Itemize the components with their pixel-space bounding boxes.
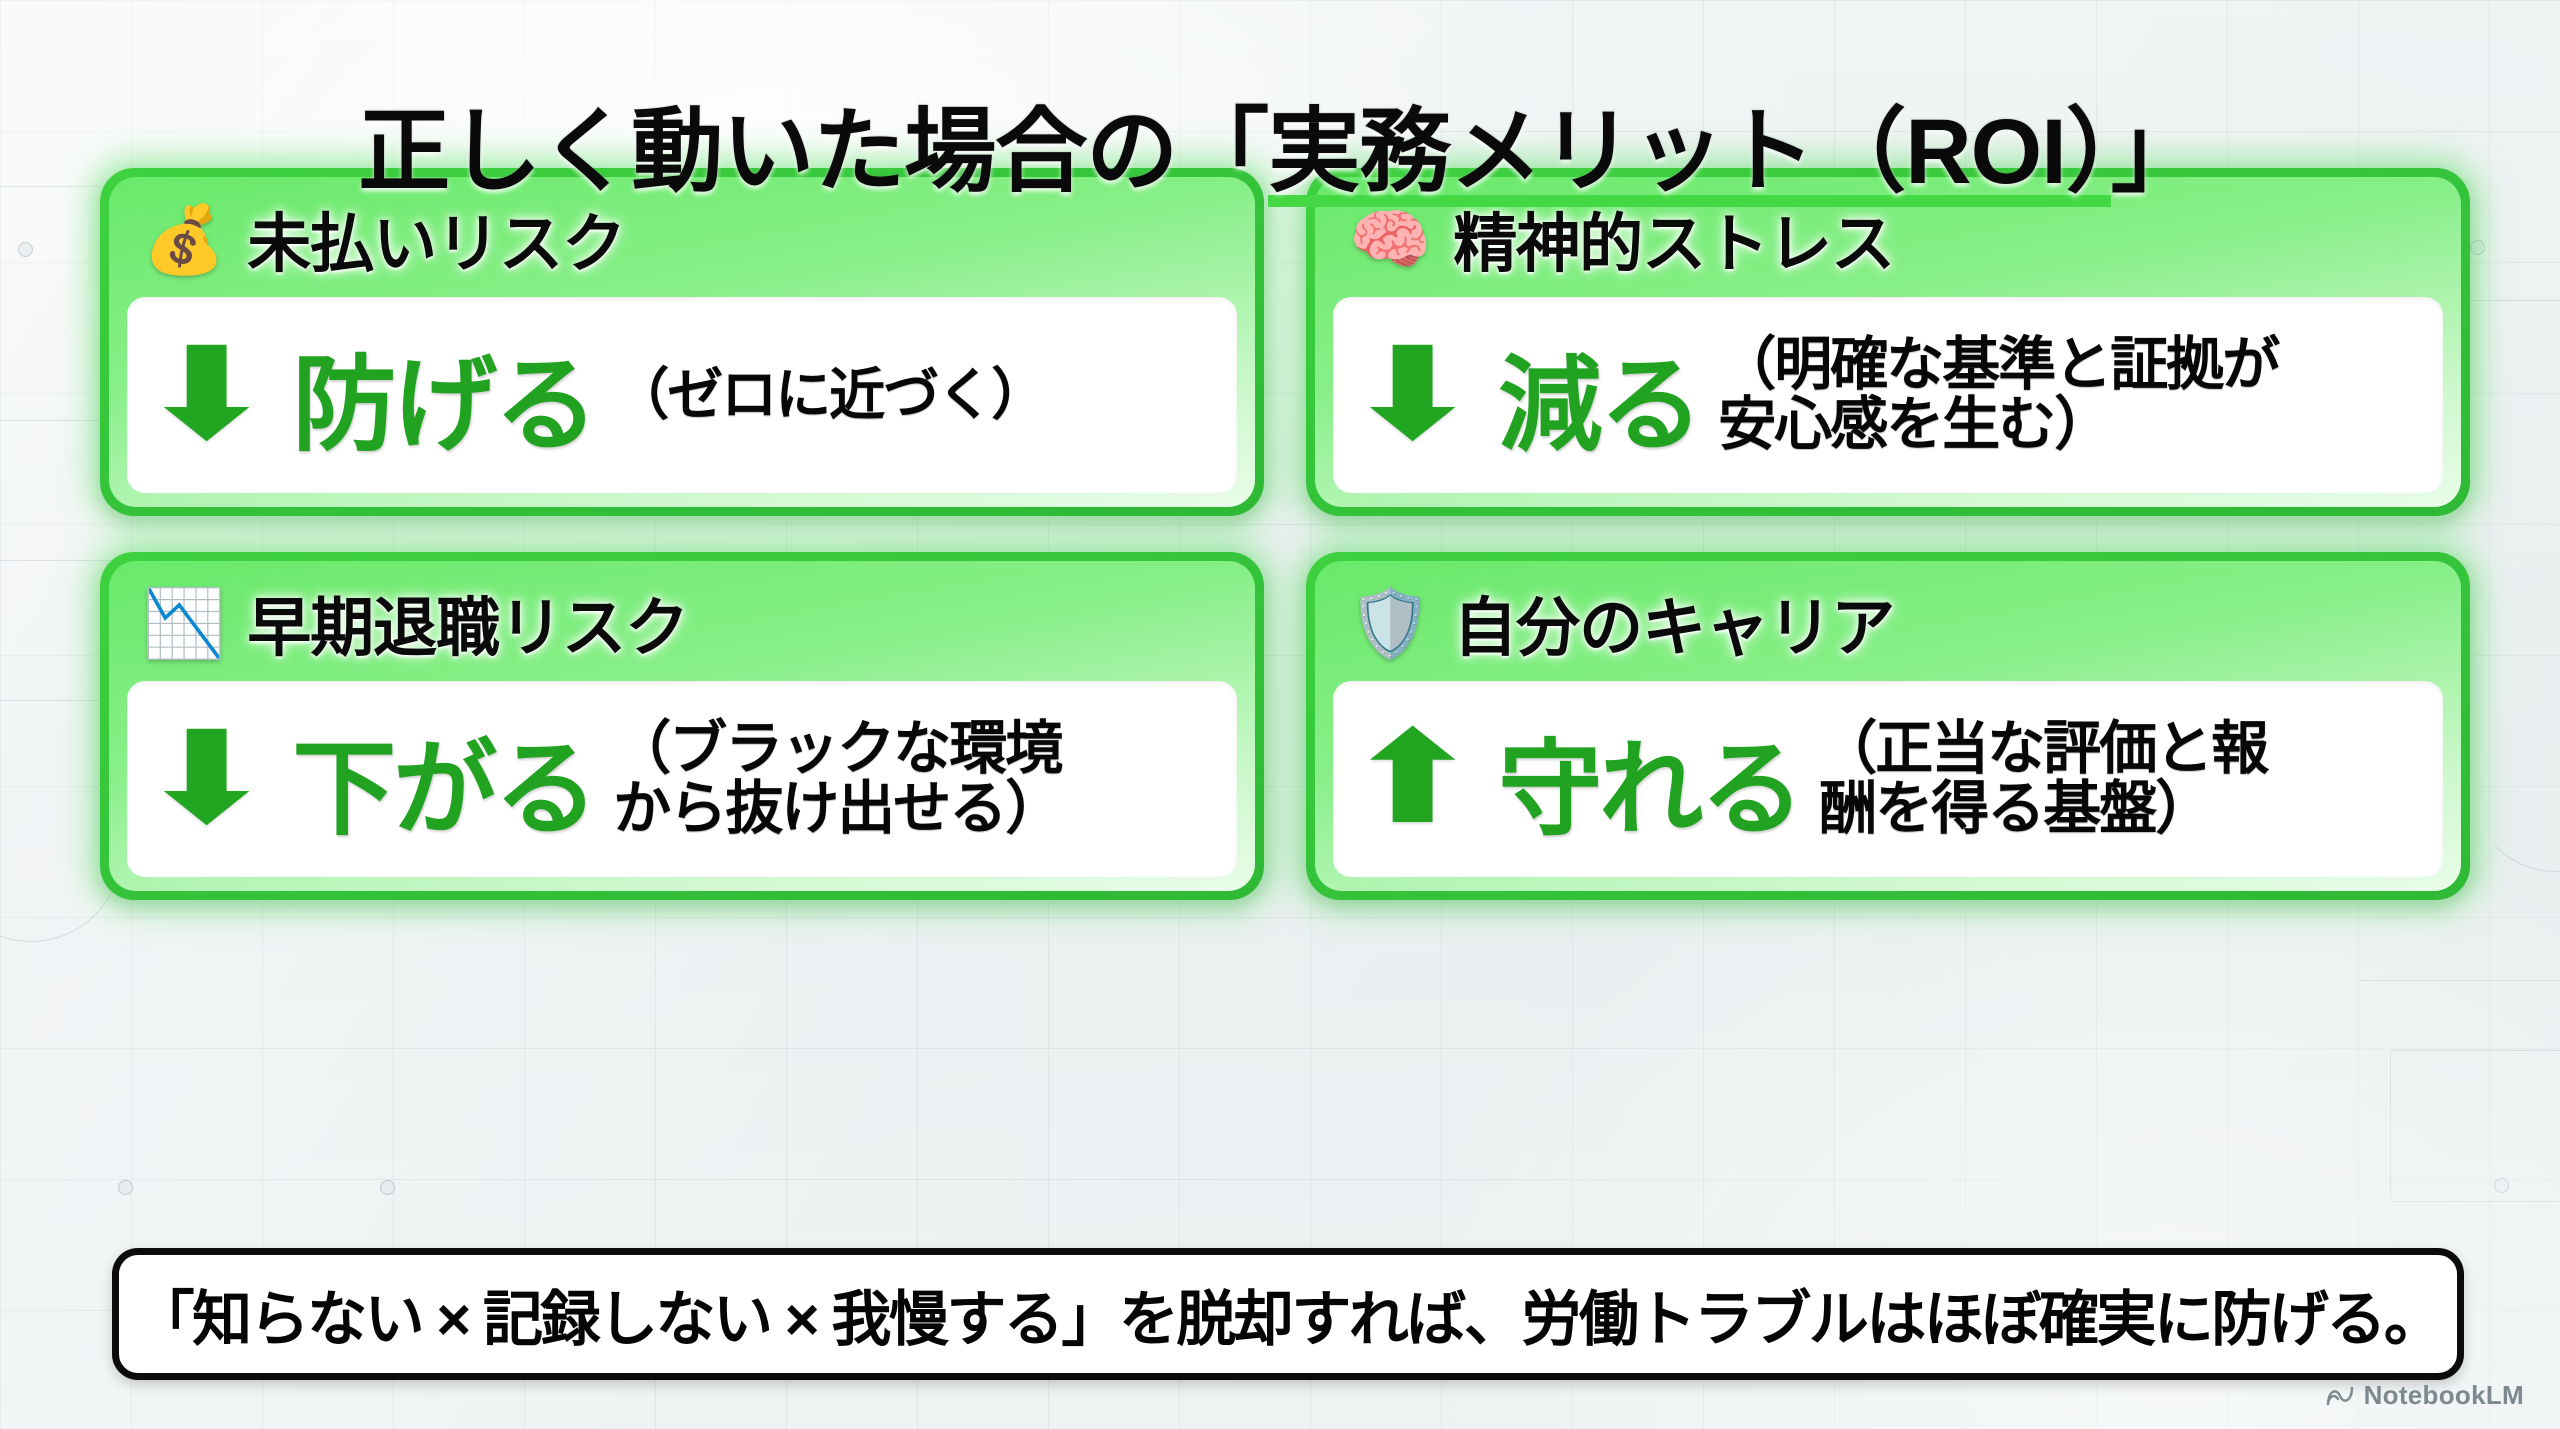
card-body: ⬆ 守れる （正当な評価と報酬を得る基盤）: [1333, 681, 2443, 877]
summary-banner: 「知らない × 記録しない × 我慢する」を脱却すれば、労働トラブルはほぼ確実に…: [112, 1248, 2464, 1380]
card-note: （ゼロに近づく）: [613, 366, 1045, 424]
card-title: 自分のキャリア: [1453, 577, 1894, 669]
card-note: （ブラックな環境から抜け出せる）: [613, 719, 1061, 840]
summary-banner-text: 「知らない × 記録しない × 我慢する」を脱却すれば、労働トラブルはほぼ確実に…: [135, 1271, 2442, 1358]
bg-dot: [380, 1180, 395, 1195]
card-header: 🛡️ 自分のキャリア: [1333, 577, 2443, 669]
benefit-card-grid: 💰 未払いリスク ⬇ 防げる （ゼロに近づく） 🧠 精神的ストレス ⬇ 減る （…: [100, 168, 2470, 900]
arrow-down-icon: ⬇: [140, 331, 274, 459]
card-body: ⬇ 下がる （ブラックな環境から抜け出せる）: [127, 681, 1237, 877]
arrow-up-icon: ⬆: [1346, 715, 1480, 843]
card-title: 早期退職リスク: [247, 577, 688, 669]
card-note-line: 酬を得る基盤）: [1819, 776, 2211, 841]
chart-decreasing-icon: 📉: [143, 590, 225, 656]
card-body: ⬇ 防げる （ゼロに近づく）: [127, 297, 1237, 493]
notebooklm-watermark: NotebookLM: [2325, 1380, 2524, 1411]
page-title-container: 正しく動いた場合の「実務メリット（ROI）」: [0, 42, 2560, 262]
card-verb: 下がる: [292, 704, 595, 855]
card-verb: 減る: [1498, 320, 1700, 471]
arrow-down-icon: ⬇: [140, 715, 274, 843]
notebooklm-logo-icon: [2325, 1384, 2355, 1408]
arrow-down-icon: ⬇: [1346, 331, 1480, 459]
notebooklm-label: NotebookLM: [2364, 1380, 2524, 1411]
card-verb: 守れる: [1498, 704, 1801, 855]
bg-dot: [118, 1180, 133, 1195]
bg-rect: [2390, 1050, 2560, 1202]
page-title-prefix: 正しく動いた場合の「: [358, 101, 1268, 203]
page-title-suffix: 」: [2111, 101, 2202, 203]
card-header: 📉 早期退職リスク: [127, 577, 1237, 669]
card-note-line: から抜け出せる）: [613, 776, 1061, 841]
benefit-card-own-career[interactable]: 🛡️ 自分のキャリア ⬆ 守れる （正当な評価と報酬を得る基盤）: [1306, 552, 2470, 900]
page-title-highlight: 実務メリット（ROI）: [1268, 101, 2111, 207]
card-inner: 📉 早期退職リスク ⬇ 下がる （ブラックな環境から抜け出せる）: [109, 561, 1255, 891]
card-note-line: （ブラックな環境: [613, 716, 1061, 781]
card-note-line: （正当な評価と報: [1819, 716, 2267, 781]
page-title: 正しく動いた場合の「実務メリット（ROI）」: [358, 104, 2202, 201]
bg-line: [2360, 980, 2560, 981]
card-verb: 防げる: [292, 320, 595, 471]
benefit-card-early-resignation-risk[interactable]: 📉 早期退職リスク ⬇ 下がる （ブラックな環境から抜け出せる）: [100, 552, 1264, 900]
card-note: （正当な評価と報酬を得る基盤）: [1819, 719, 2267, 840]
card-body: ⬇ 減る （明確な基準と証拠が安心感を生む）: [1333, 297, 2443, 493]
card-note-line: 安心感を生む）: [1718, 392, 2110, 457]
shield-check-icon: 🛡️: [1349, 590, 1431, 656]
card-note: （明確な基準と証拠が安心感を生む）: [1718, 335, 2278, 456]
card-note-line: （明確な基準と証拠が: [1718, 332, 2278, 397]
card-inner: 🛡️ 自分のキャリア ⬆ 守れる （正当な評価と報酬を得る基盤）: [1315, 561, 2461, 891]
